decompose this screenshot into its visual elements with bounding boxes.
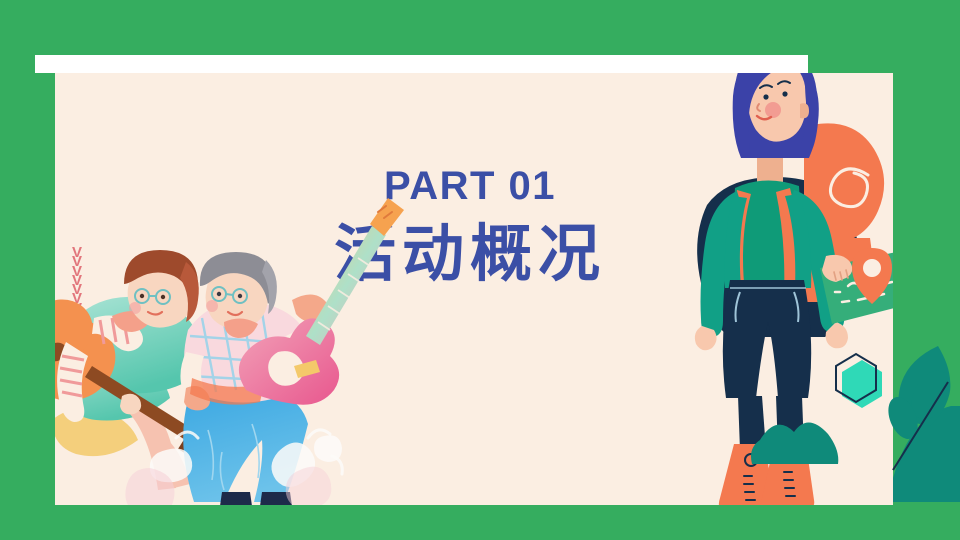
page-title-part-label: PART 01 bbox=[300, 165, 640, 207]
white-accent-bar bbox=[35, 55, 808, 73]
chevron-down-column: V V V V V V V V V bbox=[72, 248, 82, 332]
slide-canvas: PART 01 活动概况 V V V V V V V V V bbox=[0, 0, 960, 540]
chevron-down-icon: V bbox=[72, 322, 82, 331]
page-title-heading: 活动概况 bbox=[300, 221, 640, 286]
title-block: PART 01 活动概况 bbox=[300, 165, 640, 286]
